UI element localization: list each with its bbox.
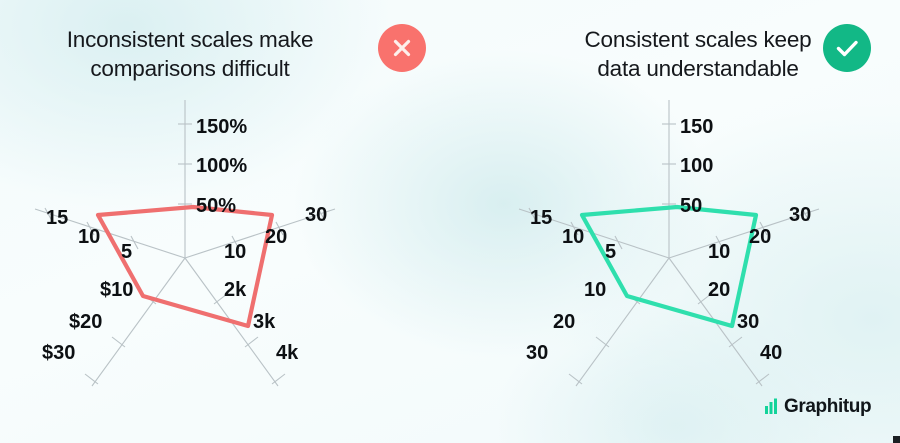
label-lower-left-1: $10 (100, 279, 133, 301)
brand-logo: Graphitup (765, 396, 871, 418)
label-lower-right-2: 3k (253, 311, 276, 333)
label-upper-right-2: 20 (265, 226, 287, 248)
label-upper-left-1: 5 (121, 241, 132, 263)
label-lower-left-1: 10 (584, 279, 606, 301)
brand-name: Graphitup (784, 396, 871, 418)
label-top-2: 100 (680, 155, 713, 177)
label-upper-right-1: 10 (224, 241, 246, 263)
radar-chart-left: 150% 100% 50% 30 20 10 4k 3k 2k $30 $20 … (0, 0, 450, 443)
label-top-2: 100% (196, 155, 247, 177)
label-top-1: 150% (196, 116, 247, 138)
label-lower-right-1: 20 (708, 279, 730, 301)
label-lower-right-2: 30 (737, 311, 759, 333)
label-lower-right-3: 4k (276, 342, 299, 364)
label-upper-left-3: 15 (530, 207, 552, 229)
label-lower-right-1: 2k (224, 279, 247, 301)
label-lower-left-3: $30 (42, 342, 75, 364)
label-upper-right-3: 30 (305, 204, 327, 226)
label-lower-right-3: 40 (760, 342, 782, 364)
label-upper-left-3: 15 (46, 207, 68, 229)
bar-chart-icon (765, 398, 781, 417)
label-upper-left-1: 5 (605, 241, 616, 263)
check-badge-icon (823, 24, 871, 72)
label-lower-left-2: $20 (69, 311, 102, 333)
infographic-canvas: Inconsistent scales make comparisons dif… (0, 0, 900, 443)
label-upper-left-2: 10 (78, 226, 100, 248)
label-upper-left-2: 10 (562, 226, 584, 248)
label-upper-right-2: 20 (749, 226, 771, 248)
label-top-1: 150 (680, 116, 713, 138)
label-lower-left-2: 20 (553, 311, 575, 333)
label-lower-left-3: 30 (526, 342, 548, 364)
panel-inconsistent-scales: Inconsistent scales make comparisons dif… (0, 0, 450, 443)
label-top-3: 50 (680, 195, 702, 217)
label-top-3: 50% (196, 195, 236, 217)
corner-marker (893, 436, 900, 443)
label-upper-right-1: 10 (708, 241, 730, 263)
label-upper-right-3: 30 (789, 204, 811, 226)
